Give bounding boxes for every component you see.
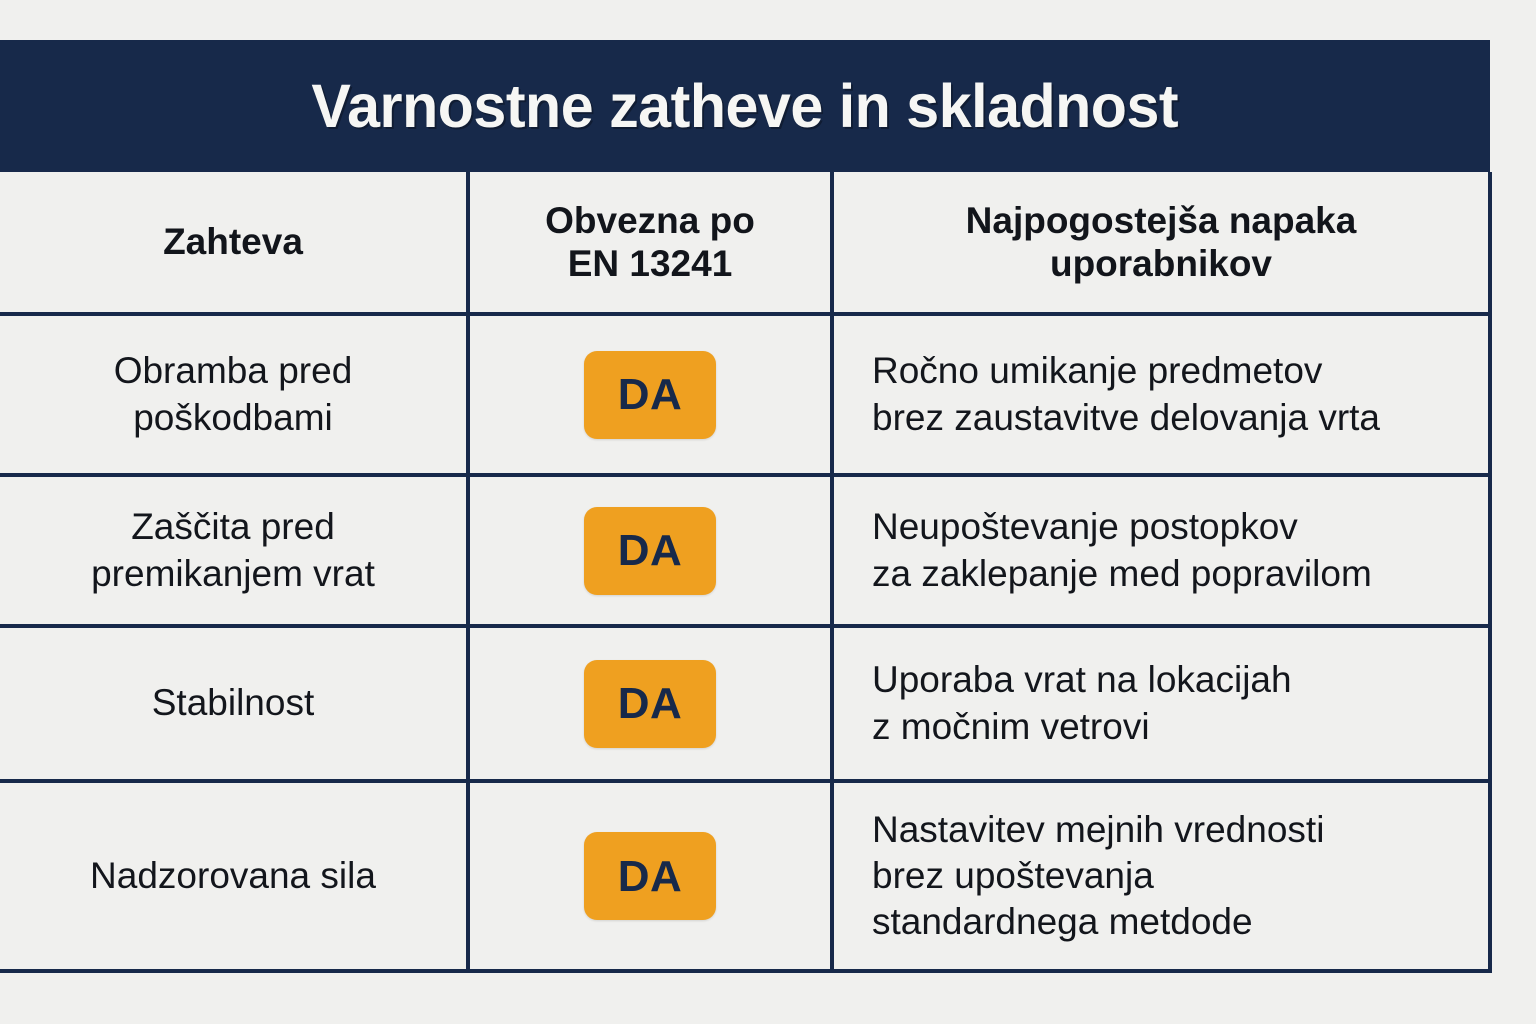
table-header-row: Zahteva Obvezna po EN 13241 Najpogostejš…: [0, 172, 1492, 316]
mistake-line1: Nastavitev mejnih vrednosti: [872, 807, 1324, 853]
table-row: Stabilnost DA Uporaba vrat na lokacijah …: [0, 628, 1492, 783]
cell-requirement: Obramba pred poškodbami: [0, 316, 470, 473]
table-row: Nadzorovana sila DA Nastavitev mejnih vr…: [0, 783, 1492, 973]
mistake-line3: standardnega metdode: [872, 899, 1324, 945]
table-row: Zaščita pred premikanjem vrat DA Neupošt…: [0, 477, 1492, 628]
cell-mandatory: DA: [470, 628, 834, 779]
mistake-line2: za zaklepanje med popravilom: [872, 551, 1372, 597]
column-header-mistake: Najpogostejša napaka uporabnikov: [834, 172, 1492, 312]
cell-requirement: Stabilnost: [0, 628, 470, 779]
status-badge: DA: [584, 351, 716, 439]
mistake-line1: Neupoštevanje postopkov: [872, 504, 1372, 550]
status-badge: DA: [584, 507, 716, 595]
infographic-root: Varnostne zatheve in skladnost Zahteva O…: [0, 0, 1536, 1024]
mistake-line2: brez zaustavitve delovanja vrta: [872, 395, 1380, 441]
column-header-mandatory: Obvezna po EN 13241: [470, 172, 834, 312]
column-header-requirement: Zahteva: [0, 172, 470, 312]
cell-mandatory: DA: [470, 477, 834, 624]
column-header-mandatory-line2: EN 13241: [545, 242, 755, 285]
page-title: Varnostne zatheve in skladnost: [312, 71, 1179, 141]
cell-mistake: Nastavitev mejnih vrednosti brez upoštev…: [834, 783, 1492, 969]
cell-requirement: Zaščita pred premikanjem vrat: [0, 477, 470, 624]
column-header-mistake-line1: Najpogostejša napaka: [966, 199, 1357, 242]
mistake-line1: Ročno umikanje predmetov: [872, 348, 1380, 394]
requirement-line1: Stabilnost: [152, 680, 315, 726]
requirement-line2: poškodbami: [114, 395, 353, 441]
mistake-line2: brez upoštevanja: [872, 853, 1324, 899]
mistake-line2: z močnim vetrovi: [872, 704, 1292, 750]
requirement-line1: Nadzorovana sila: [90, 853, 376, 899]
title-bar: Varnostne zatheve in skladnost: [0, 40, 1490, 172]
cell-mistake: Uporaba vrat na lokacijah z močnim vetro…: [834, 628, 1492, 779]
status-badge: DA: [584, 660, 716, 748]
table-row: Obramba pred poškodbami DA Ročno umikanj…: [0, 316, 1492, 477]
column-header-requirement-label: Zahteva: [163, 220, 303, 263]
cell-mandatory: DA: [470, 316, 834, 473]
mistake-line1: Uporaba vrat na lokacijah: [872, 657, 1292, 703]
column-header-mistake-line2: uporabnikov: [966, 242, 1357, 285]
cell-mandatory: DA: [470, 783, 834, 969]
cell-mistake: Neupoštevanje postopkov za zaklepanje me…: [834, 477, 1492, 624]
requirement-line1: Obramba pred: [114, 348, 353, 394]
column-header-mandatory-line1: Obvezna po: [545, 199, 755, 242]
requirement-line2: premikanjem vrat: [91, 551, 375, 597]
requirements-table: Zahteva Obvezna po EN 13241 Najpogostejš…: [0, 172, 1492, 973]
cell-requirement: Nadzorovana sila: [0, 783, 470, 969]
status-badge: DA: [584, 832, 716, 920]
requirement-line1: Zaščita pred: [91, 504, 375, 550]
cell-mistake: Ročno umikanje predmetov brez zaustavitv…: [834, 316, 1492, 473]
